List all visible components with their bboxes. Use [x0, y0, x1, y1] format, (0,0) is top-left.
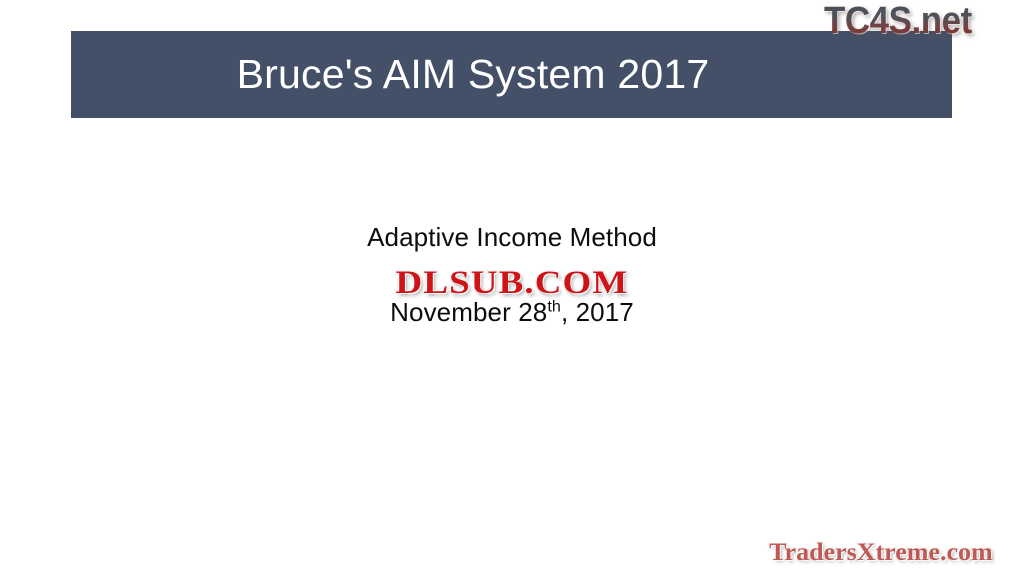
- title-banner: Bruce's AIM System 2017: [71, 31, 952, 118]
- tradersxtreme-watermark-text: TradersXtreme.com: [766, 538, 996, 567]
- date-month-day: November 28: [390, 297, 547, 327]
- date-ordinal-suffix: th: [547, 297, 561, 315]
- date-text: November 28th, 2017: [0, 297, 1024, 328]
- subtitle-text: Adaptive Income Method: [0, 222, 1024, 253]
- date-year: , 2017: [561, 297, 634, 327]
- slide-body: Adaptive Income Method November 28th, 20…: [0, 222, 1024, 327]
- tradersxtreme-watermark: TradersXtreme.com: [766, 538, 987, 567]
- presentation-slide: Bruce's AIM System 2017 Adaptive Income …: [0, 0, 1024, 576]
- slide-title: Bruce's AIM System 2017: [71, 31, 952, 118]
